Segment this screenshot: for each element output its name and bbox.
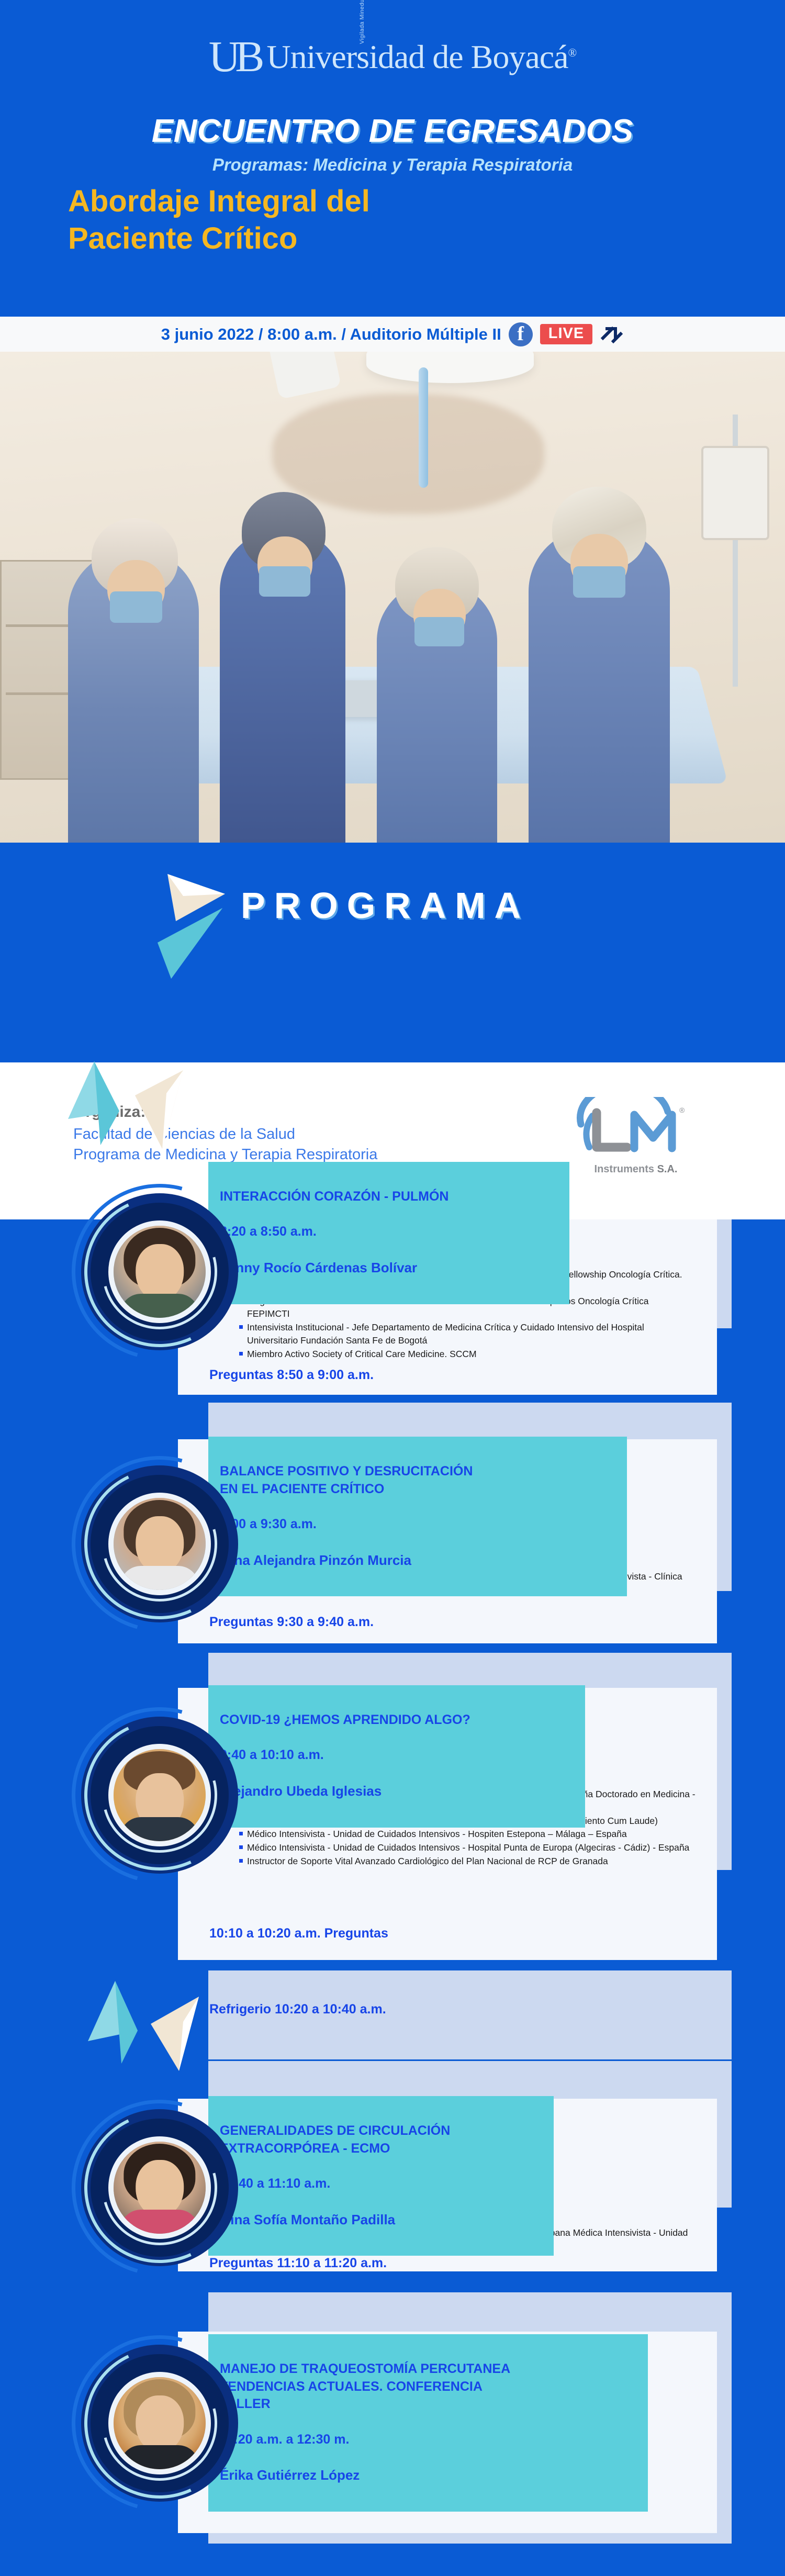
- hero-lamp-arm: [419, 367, 428, 488]
- block-title-chip: INTERACCIÓN CORAZÓN - PULMÓN 8:20 a 8:50…: [208, 1162, 569, 1304]
- event-title: ENCUENTRO DE EGRESADOS: [0, 113, 785, 150]
- program-title: PROGRAMA: [241, 884, 530, 926]
- block-title-chip: COVID-19 ¿HEMOS APRENDIDO ALGO? 9:40 a 1…: [208, 1685, 585, 1828]
- avatar-photo-face: [114, 2377, 206, 2469]
- avatar-photo-face: [114, 1749, 206, 1841]
- block-title: COVID-19 ¿HEMOS APRENDIDO ALGO?: [220, 1711, 574, 1729]
- block-speaker: Yenny Rocío Cárdenas Bolívar: [220, 1259, 558, 1277]
- block-time: 10:40 a 11:10 a.m.: [220, 2175, 542, 2193]
- event-main-theme: Abordaje Integral del Paciente Crítico: [68, 183, 370, 257]
- svg-text:®: ®: [679, 1106, 685, 1114]
- bullet-item: Médico Intensivista - Unidad de Cuidados…: [238, 1841, 699, 1854]
- ub-monogram-icon: UB: [209, 31, 260, 82]
- block-speaker: Alejandro Ubeda Iglesias: [220, 1782, 574, 1800]
- block-title-chip: BALANCE POSITIVO Y DESRUCITACIÓN EN EL P…: [208, 1437, 627, 1596]
- avatar-photo: [114, 2377, 206, 2469]
- hero-monitor: [701, 446, 769, 540]
- facebook-icon[interactable]: [509, 322, 533, 346]
- speaker-avatar: [81, 2345, 238, 2502]
- lm-instruments-text: Instruments: [595, 1163, 654, 1175]
- avatar-photo: [114, 2142, 206, 2234]
- hero-photo-surgery: [0, 352, 785, 843]
- program-list: INTERACCIÓN CORAZÓN - PULMÓN 8:20 a 8:50…: [0, 984, 785, 1062]
- program-section-header: PROGRAMA: [0, 843, 785, 984]
- block-time: 9:40 a 10:10 a.m.: [220, 1746, 574, 1764]
- block-questions: 10:10 a 10:20 a.m. Preguntas: [209, 1926, 388, 1941]
- share-arrow-icon[interactable]: [600, 322, 624, 346]
- avatar-shoulders: [120, 1566, 199, 1590]
- event-poster: Vigilada Mineducación UBUniversidad de B…: [0, 0, 785, 2576]
- avatar-photo-face: [114, 2142, 206, 2234]
- university-logo: Vigilada Mineducación UBUniversidad de B…: [0, 31, 785, 82]
- hero-surgeon-mask: [414, 617, 464, 646]
- avatar-skin: [136, 2160, 184, 2217]
- event-theme-line1: Abordaje Integral del: [68, 183, 370, 220]
- speaker-avatar: [81, 1465, 238, 1622]
- vigilada-mineducacion-label: Vigilada Mineducación: [359, 0, 365, 44]
- avatar-shoulders: [120, 1817, 199, 1841]
- avatar-skin: [136, 1516, 184, 1573]
- university-name: Universidad de Boyacá: [266, 38, 568, 75]
- event-subtitle: Programas: Medicina y Terapia Respirator…: [0, 155, 785, 175]
- avatar-photo-face: [114, 1226, 206, 1318]
- lm-sa-text: S.A.: [657, 1163, 678, 1175]
- poster-header: Vigilada Mineducación UBUniversidad de B…: [0, 0, 785, 314]
- bullet-item: Médico Intensivista - Unidad de Cuidados…: [238, 1828, 699, 1841]
- block-time: 11:20 a.m. a 12:30 m.: [220, 2431, 636, 2449]
- avatar-skin: [136, 2395, 184, 2452]
- bullet-item: Instructor de Soporte Vital Avanzado Car…: [238, 1855, 699, 1868]
- hero-surgeon-mask: [259, 566, 310, 597]
- live-badge: LIVE: [540, 324, 592, 344]
- block-speaker: Gina Alejandra Pinzón Murcia: [220, 1551, 615, 1570]
- avatar-shoulders: [120, 1294, 199, 1318]
- block-title: GENERALIDADES DE CIRCULACIÓN EXTRACORPÓR…: [220, 2122, 542, 2158]
- hero-lamp-shadow: [272, 394, 544, 514]
- block-title: BALANCE POSITIVO Y DESRUCITACIÓN EN EL P…: [220, 1463, 615, 1498]
- decorative-triangle-teal: [144, 908, 228, 987]
- decorative-triangle-teal: [83, 1981, 156, 2070]
- decorative-triangle-teal: [63, 1061, 141, 1153]
- break-label: Refrigerio 10:20 a 10:40 a.m.: [209, 2002, 386, 2017]
- block-title: INTERACCIÓN CORAZÓN - PULMÓN: [220, 1188, 558, 1206]
- hero-surgeon-mask: [110, 591, 162, 623]
- registered-icon: ®: [568, 46, 577, 59]
- avatar-photo: [114, 1226, 206, 1318]
- decorative-triangle-cream: [131, 1070, 188, 1157]
- block-questions: Preguntas 8:50 a 9:00 a.m.: [209, 1368, 374, 1383]
- event-theme-line2: Paciente Crítico: [68, 220, 370, 257]
- bullet-item: Miembro Activo Society of Critical Care …: [238, 1348, 683, 1361]
- avatar-skin: [136, 1244, 184, 1301]
- speaker-avatar: [81, 1193, 238, 1350]
- avatar-shoulders: [120, 2445, 199, 2469]
- block-title-chip: GENERALIDADES DE CIRCULACIÓN EXTRACORPÓR…: [208, 2096, 554, 2256]
- avatar-shoulders: [120, 2210, 199, 2234]
- block-speaker: Érika Gutiérrez López: [220, 2466, 636, 2484]
- speaker-avatar: [81, 1717, 238, 1874]
- speaker-avatar: [81, 2109, 238, 2266]
- decorative-triangle-cream: [147, 1997, 204, 2078]
- block-title-chip: MANEJO DE TRAQUEOSTOMÍA PERCUTANEA TENDE…: [208, 2334, 648, 2512]
- avatar-photo: [114, 1749, 206, 1841]
- block-title: MANEJO DE TRAQUEOSTOMÍA PERCUTANEA TENDE…: [220, 2360, 636, 2413]
- block-speaker: Gina Sofía Montaño Padilla: [220, 2211, 542, 2229]
- block-time: 8:20 a 8:50 a.m.: [220, 1223, 558, 1241]
- hero-surgeon-mask: [573, 566, 625, 598]
- bullet-item: Intensivista Institucional - Jefe Depart…: [238, 1321, 683, 1347]
- lm-instruments-logo: ® Instruments S.A.: [565, 1097, 706, 1175]
- avatar-photo-face: [114, 1498, 206, 1590]
- event-datetime-bar: 3 junio 2022 / 8:00 a.m. / Auditorio Múl…: [0, 314, 785, 352]
- lm-logo-caption: Instruments S.A.: [565, 1163, 706, 1175]
- block-time: 9:00 a 9:30 a.m.: [220, 1516, 615, 1533]
- event-datetime-text: 3 junio 2022 / 8:00 a.m. / Auditorio Múl…: [161, 325, 501, 344]
- avatar-photo: [114, 1498, 206, 1590]
